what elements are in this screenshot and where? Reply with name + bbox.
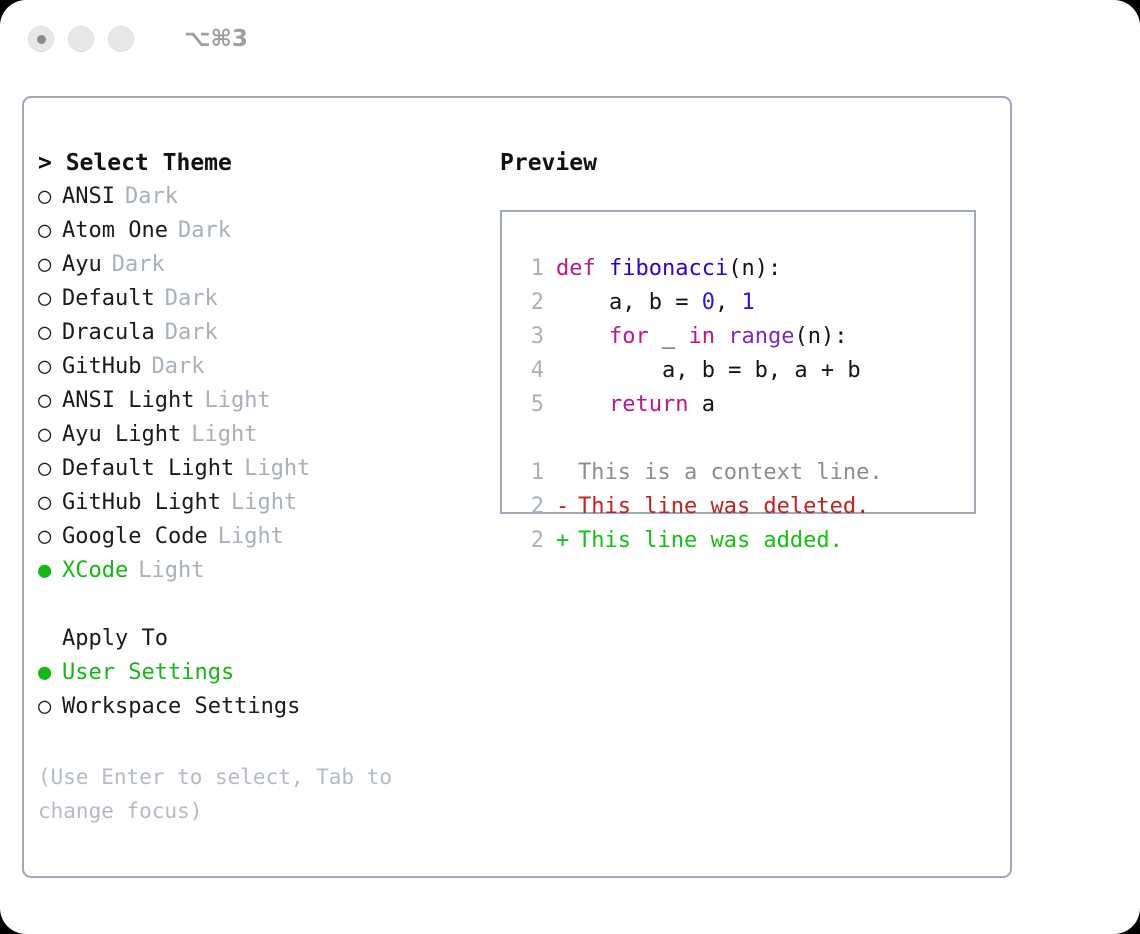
theme-list-item[interactable]: ○DraculaDark <box>38 316 488 350</box>
theme-name: XCode <box>62 554 128 588</box>
code-line-content: a, b = 0, 1 <box>556 286 755 320</box>
radio-unselected-icon[interactable]: ○ <box>38 248 62 282</box>
theme-list-item[interactable]: ○Default LightLight <box>38 452 488 486</box>
apply-to-item[interactable]: ●User Settings <box>38 656 488 690</box>
code-preview: 1def fibonacci(n):2 a, b = 0, 13 for _ i… <box>516 252 974 422</box>
apply-to-heading-row: ○ Apply To <box>38 622 488 656</box>
radio-unselected-icon[interactable]: ○ <box>38 690 62 724</box>
diff-marker: + <box>556 524 578 558</box>
theme-variant-label: Light <box>218 520 284 554</box>
code-token-pl: , <box>715 290 742 315</box>
code-token-pl <box>556 324 609 349</box>
apply-to-label: Workspace Settings <box>62 690 300 724</box>
code-line-number: 4 <box>516 354 544 388</box>
code-line-number: 2 <box>516 286 544 320</box>
theme-name: GitHub Light <box>62 486 221 520</box>
theme-variant-label: Dark <box>165 316 218 350</box>
theme-list: ○ANSIDark○Atom OneDark○AyuDark○DefaultDa… <box>38 180 488 588</box>
radio-selected-icon[interactable]: ● <box>38 656 62 690</box>
diff-line-content: This line was added. <box>578 524 843 558</box>
radio-unselected-icon[interactable]: ○ <box>38 316 62 350</box>
diff-line-number: 1 <box>516 456 544 490</box>
theme-list-item[interactable]: ○Ayu LightLight <box>38 418 488 452</box>
code-token-pl: a <box>688 392 715 417</box>
preview-box: 1def fibonacci(n):2 a, b = 0, 13 for _ i… <box>500 210 976 514</box>
keyboard-hint: (Use Enter to select, Tab to change focu… <box>38 760 448 828</box>
apply-to-list: ●User Settings○Workspace Settings <box>38 656 488 724</box>
radio-unselected-icon[interactable]: ○ <box>38 282 62 316</box>
theme-list-column: > Select Theme ○ANSIDark○Atom OneDark○Ay… <box>38 146 488 828</box>
diff-line-content: This line was deleted. <box>578 490 869 524</box>
app-window: ⌥⌘3 > Select Theme ○ANSIDark○Atom OneDar… <box>0 0 1140 934</box>
code-token-pl: a, b = <box>556 290 702 315</box>
theme-variant-label: Light <box>138 554 204 588</box>
theme-name: ANSI <box>62 180 115 214</box>
apply-to-item[interactable]: ○Workspace Settings <box>38 690 488 724</box>
radio-unselected-icon[interactable]: ○ <box>38 452 62 486</box>
theme-variant-label: Dark <box>178 214 231 248</box>
code-line-number: 3 <box>516 320 544 354</box>
code-token-num: 0 <box>702 290 715 315</box>
theme-name: Default <box>62 282 155 316</box>
theme-name: ANSI Light <box>62 384 194 418</box>
traffic-light-button-1[interactable] <box>28 26 54 52</box>
section-spacer <box>38 588 488 622</box>
theme-list-item[interactable]: ○Google CodeLight <box>38 520 488 554</box>
theme-name: Google Code <box>62 520 208 554</box>
diff-line: 2+This line was added. <box>516 524 974 558</box>
code-token-pl: a, b = b, a + b <box>556 358 861 383</box>
code-token-num: 1 <box>741 290 754 315</box>
diff-line-content: This is a context line. <box>578 456 883 490</box>
preview-column: Preview 1def fibonacci(n):2 a, b = 0, 13… <box>500 146 1000 514</box>
code-line-content: for _ in range(n): <box>556 320 847 354</box>
code-line: 2 a, b = 0, 1 <box>516 286 974 320</box>
theme-variant-label: Light <box>191 418 257 452</box>
select-theme-heading: > Select Theme <box>38 146 488 180</box>
theme-variant-label: Dark <box>165 282 218 316</box>
theme-list-item[interactable]: ●XCodeLight <box>38 554 488 588</box>
code-token-fn: fibonacci <box>609 256 728 281</box>
radio-unselected-icon[interactable]: ○ <box>38 486 62 520</box>
preview-heading: Preview <box>500 146 1000 180</box>
code-line-content: def fibonacci(n): <box>556 252 781 286</box>
theme-name: Dracula <box>62 316 155 350</box>
code-line: 3 for _ in range(n): <box>516 320 974 354</box>
code-line: 5 return a <box>516 388 974 422</box>
code-token-kw: return <box>609 392 688 417</box>
theme-variant-label: Light <box>231 486 297 520</box>
theme-variant-label: Dark <box>125 180 178 214</box>
apply-to-label: User Settings <box>62 656 234 690</box>
radio-unselected-icon[interactable]: ○ <box>38 418 62 452</box>
theme-variant-label: Light <box>244 452 310 486</box>
code-token-pl: (n): <box>728 256 781 281</box>
theme-list-item[interactable]: ○ANSIDark <box>38 180 488 214</box>
keyboard-shortcut-label: ⌥⌘3 <box>184 26 248 52</box>
theme-list-item[interactable]: ○AyuDark <box>38 248 488 282</box>
code-token-pl: (n): <box>794 324 847 349</box>
code-line-content: a, b = b, a + b <box>556 354 861 388</box>
diff-preview: 1 This is a context line.2-This line was… <box>516 456 974 558</box>
traffic-light-button-3[interactable] <box>108 26 134 52</box>
theme-variant-label: Dark <box>112 248 165 282</box>
apply-to-heading-marker-spacer: ○ <box>38 622 62 656</box>
theme-variant-label: Light <box>204 384 270 418</box>
theme-list-item[interactable]: ○GitHub LightLight <box>38 486 488 520</box>
apply-to-heading: Apply To <box>62 622 168 656</box>
code-line-number: 5 <box>516 388 544 422</box>
code-line: 1def fibonacci(n): <box>516 252 974 286</box>
theme-name: GitHub <box>62 350 141 384</box>
theme-list-item[interactable]: ○Atom OneDark <box>38 214 488 248</box>
theme-name: Default Light <box>62 452 234 486</box>
radio-selected-icon[interactable]: ● <box>38 554 62 588</box>
code-token-pl <box>556 392 609 417</box>
code-token-pl <box>715 324 728 349</box>
traffic-light-button-2[interactable] <box>68 26 94 52</box>
radio-unselected-icon[interactable]: ○ <box>38 350 62 384</box>
theme-list-item[interactable]: ○ANSI LightLight <box>38 384 488 418</box>
code-token-bi: range <box>728 324 794 349</box>
radio-unselected-icon[interactable]: ○ <box>38 520 62 554</box>
radio-unselected-icon[interactable]: ○ <box>38 384 62 418</box>
code-line-number: 1 <box>516 252 544 286</box>
radio-unselected-icon[interactable]: ○ <box>38 214 62 248</box>
code-token-kw: in <box>688 324 715 349</box>
code-token-kw: for <box>609 324 649 349</box>
code-line: 4 a, b = b, a + b <box>516 354 974 388</box>
title-bar: ⌥⌘3 <box>0 0 1140 78</box>
diff-line-number: 2 <box>516 490 544 524</box>
theme-variant-label: Dark <box>151 350 204 384</box>
code-diff-spacer <box>516 422 974 456</box>
theme-list-item[interactable]: ○GitHubDark <box>38 350 488 384</box>
theme-name: Ayu Light <box>62 418 181 452</box>
code-token-kw: def <box>556 256 609 281</box>
radio-unselected-icon[interactable]: ○ <box>38 180 62 214</box>
theme-picker-panel: > Select Theme ○ANSIDark○Atom OneDark○Ay… <box>22 96 1012 878</box>
diff-line-number: 2 <box>516 524 544 558</box>
theme-name: Ayu <box>62 248 102 282</box>
code-token-pl: _ <box>649 324 689 349</box>
theme-name: Atom One <box>62 214 168 248</box>
theme-list-item[interactable]: ○DefaultDark <box>38 282 488 316</box>
diff-marker <box>556 456 578 490</box>
diff-line: 1 This is a context line. <box>516 456 974 490</box>
diff-line: 2-This line was deleted. <box>516 490 974 524</box>
diff-marker: - <box>556 490 578 524</box>
code-line-content: return a <box>556 388 715 422</box>
